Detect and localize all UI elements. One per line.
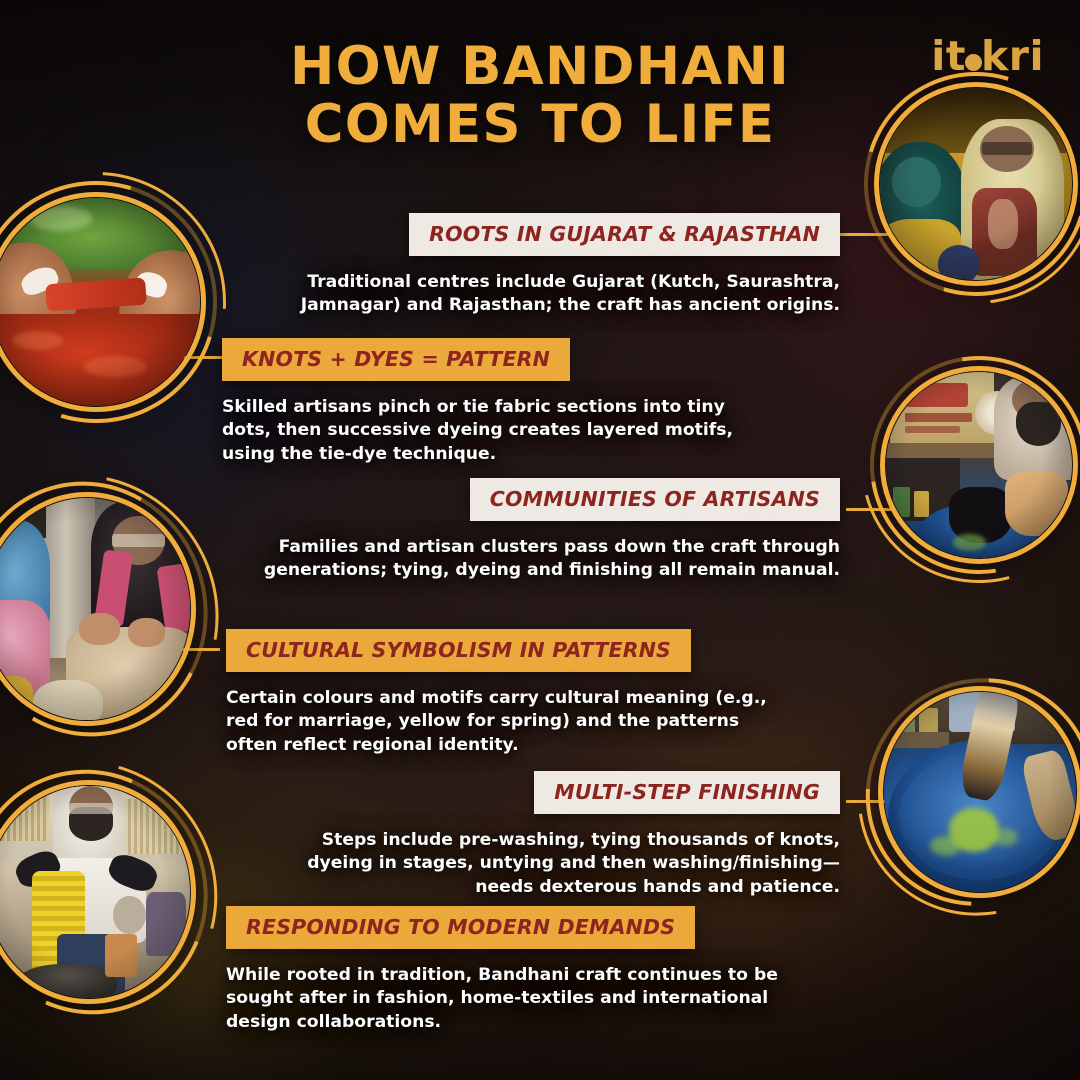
- section-knots-dyes: KNOTS + DYES = PATTERN Skilled artisans …: [222, 338, 778, 466]
- section-body-finishing: Steps include pre-washing, tying thousan…: [300, 829, 840, 899]
- section-roots: ROOTS IN GUJARAT & RAJASTHAN Traditional…: [262, 213, 840, 318]
- brand-logo[interactable]: itkri: [931, 36, 1044, 77]
- brand-logo-dot-icon: [965, 54, 982, 71]
- photo-scene: [0, 786, 190, 998]
- photo-scene: [884, 692, 1076, 892]
- section-heading-communities: COMMUNITIES OF ARTISANS: [470, 478, 840, 521]
- section-communities: COMMUNITIES OF ARTISANS Families and art…: [250, 478, 840, 583]
- page-title: HOW BANDHANI COMES TO LIFE: [0, 38, 1080, 154]
- brand-logo-text-post: kri: [981, 32, 1044, 80]
- photo-blue-dye-vat: [884, 692, 1076, 892]
- section-body-modern-demands: While rooted in tradition, Bandhani craf…: [226, 964, 786, 1034]
- photo-disc: [0, 198, 200, 406]
- page-title-line-2: COMES TO LIFE: [0, 96, 1080, 154]
- photo-scene: [0, 198, 200, 406]
- photo-hands-tying-red-fabric: [0, 198, 200, 406]
- photo-disc: [886, 372, 1072, 558]
- photo-artisan-lifting-yellow-fabric: [0, 786, 190, 998]
- page-title-line-1: HOW BANDHANI: [0, 38, 1080, 96]
- photo-women-tying-outdoors: [0, 498, 190, 720]
- section-heading-knots-dyes: KNOTS + DYES = PATTERN: [222, 338, 570, 381]
- photo-scene: [886, 372, 1072, 558]
- photo-disc: [0, 786, 190, 998]
- brand-logo-text-pre: it: [931, 32, 966, 80]
- section-finishing: MULTI-STEP FINISHING Steps include pre-w…: [300, 771, 840, 899]
- section-heading-modern-demands: RESPONDING TO MODERN DEMANDS: [226, 906, 695, 949]
- photo-artisan-dyeing-blue-tub: [886, 372, 1072, 558]
- section-heading-symbolism: CULTURAL SYMBOLISM IN PATTERNS: [226, 629, 691, 672]
- photo-disc: [884, 692, 1076, 892]
- section-body-communities: Families and artisan clusters pass down …: [250, 536, 840, 583]
- section-heading-roots: ROOTS IN GUJARAT & RAJASTHAN: [409, 213, 840, 256]
- section-body-symbolism: Certain colours and motifs carry cultura…: [226, 687, 786, 757]
- section-body-roots: Traditional centres include Gujarat (Kut…: [262, 271, 840, 318]
- section-heading-finishing: MULTI-STEP FINISHING: [534, 771, 840, 814]
- photo-scene: [0, 498, 190, 720]
- photo-disc: [0, 498, 190, 720]
- section-modern-demands: RESPONDING TO MODERN DEMANDS While roote…: [226, 906, 786, 1034]
- section-body-knots-dyes: Skilled artisans pinch or tie fabric sec…: [222, 396, 778, 466]
- section-symbolism: CULTURAL SYMBOLISM IN PATTERNS Certain c…: [226, 629, 786, 757]
